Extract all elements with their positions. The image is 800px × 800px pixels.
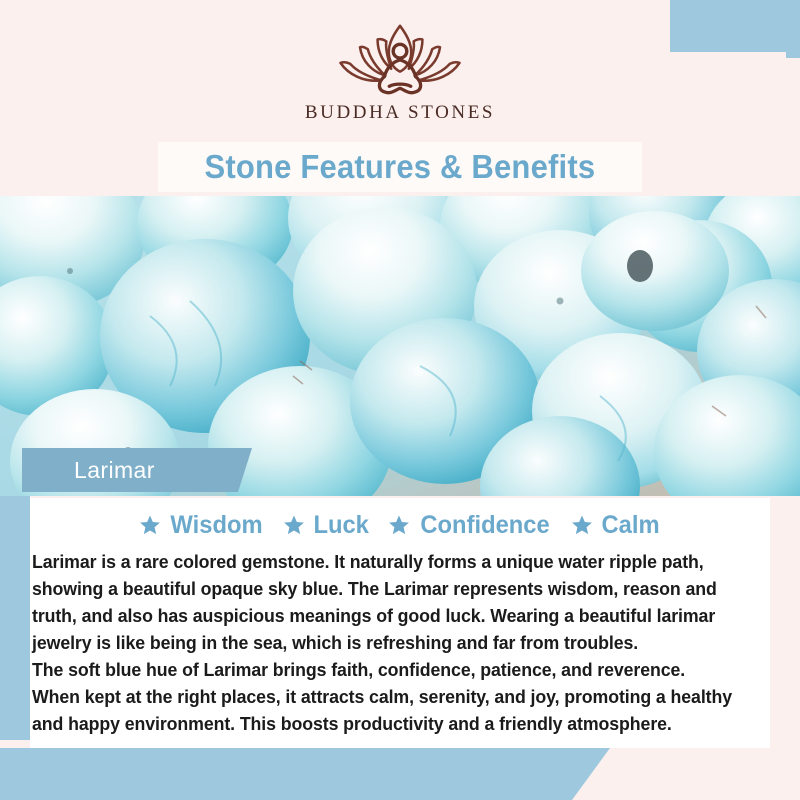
- benefit-label: Wisdom: [170, 511, 262, 540]
- decor-bottom-bar: [0, 748, 610, 800]
- content-panel: Wisdom Luck Confidence: [30, 498, 770, 748]
- benefit-item-wisdom: Wisdom: [139, 511, 265, 540]
- description-paragraph-2: The soft blue hue of Larimar brings fait…: [32, 656, 735, 737]
- description-block: Larimar is a rare colored gemstone. It n…: [30, 544, 770, 737]
- infographic-page: BUDDHA STONES Stone Features & Benefits: [0, 0, 800, 800]
- description-paragraph-1: Larimar is a rare colored gemstone. It n…: [32, 548, 735, 656]
- benefit-label: Calm: [602, 511, 660, 540]
- star-icon: [283, 514, 305, 536]
- stone-name-tag: Larimar: [22, 448, 252, 492]
- benefit-item-luck: Luck: [283, 511, 370, 540]
- star-icon: [571, 514, 593, 536]
- brand-name: BUDDHA STONES: [305, 102, 495, 124]
- benefit-label: Luck: [313, 511, 368, 540]
- title-banner: Stone Features & Benefits: [158, 142, 642, 192]
- star-icon: [388, 514, 410, 536]
- lotus-meditation-figure-icon: [325, 18, 475, 98]
- stone-name-label: Larimar: [74, 457, 155, 484]
- benefit-label: Confidence: [420, 511, 549, 540]
- page-title: Stone Features & Benefits: [205, 148, 596, 186]
- benefits-row: Wisdom Luck Confidence: [30, 498, 770, 544]
- benefit-item-confidence: Confidence: [388, 511, 553, 540]
- star-icon: [139, 514, 161, 536]
- brand-header: BUDDHA STONES: [0, 0, 800, 140]
- benefit-item-calm: Calm: [571, 511, 661, 540]
